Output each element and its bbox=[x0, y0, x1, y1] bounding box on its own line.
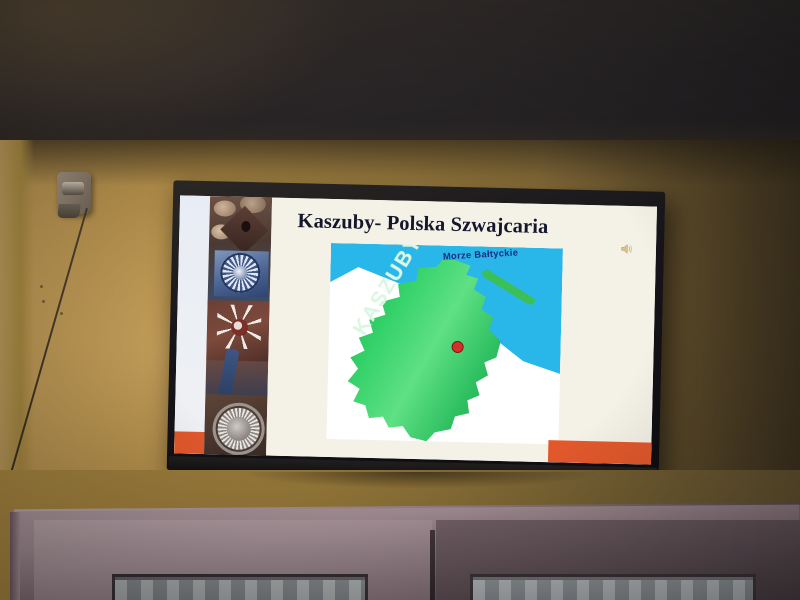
curtain bbox=[115, 580, 365, 600]
slide-body: Kaszuby- Polska Szwajcaria bbox=[266, 198, 657, 465]
door-glass-left bbox=[112, 574, 368, 600]
classroom-scene: Kaszuby- Polska Szwajcaria bbox=[0, 0, 800, 600]
kashubian-folk-art-photo bbox=[204, 196, 272, 455]
wall-mark bbox=[60, 312, 63, 315]
wall-socket-lip bbox=[57, 204, 81, 218]
door-glass-right bbox=[470, 574, 756, 600]
curtain bbox=[473, 580, 753, 600]
speaker-icon[interactable] bbox=[620, 242, 633, 256]
tv-screen[interactable]: Kaszuby- Polska Szwajcaria bbox=[174, 195, 657, 464]
slide-accent-bar-right bbox=[548, 440, 651, 464]
slide-accent-bar-left bbox=[174, 431, 205, 454]
kaszuby-map: KASZUBY Morze Bałtyckie bbox=[326, 243, 563, 444]
door-center-divider bbox=[430, 530, 435, 600]
presentation-slide: Kaszuby- Polska Szwajcaria bbox=[174, 195, 657, 464]
wall-mark bbox=[42, 300, 45, 303]
wall-mounted-tv[interactable]: Kaszuby- Polska Szwajcaria bbox=[167, 180, 666, 482]
slide-title: Kaszuby- Polska Szwajcaria bbox=[297, 210, 587, 240]
wall-mark bbox=[40, 285, 43, 288]
wooden-disc-icon bbox=[214, 200, 236, 217]
door-frame-left-edge bbox=[10, 512, 20, 600]
